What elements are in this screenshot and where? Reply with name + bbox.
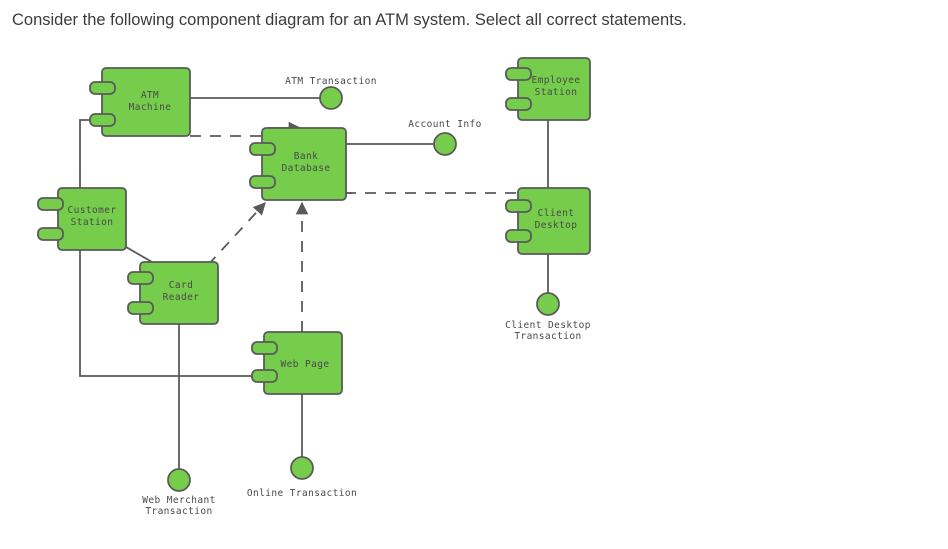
question-text: Consider the following component diagram… — [12, 10, 932, 31]
interface-online-transaction[interactable]: Online Transaction — [247, 457, 357, 499]
interface-label-line1: Client Desktop — [505, 320, 591, 331]
component-label-line2: Desktop — [535, 220, 578, 231]
interface-label-line1: Account Info — [408, 119, 481, 130]
diagram-canvas: ATM Machine Bank Database Customer Stati… — [0, 40, 948, 549]
interface-label-line1: ATM Transaction — [285, 76, 377, 87]
component-customer-station[interactable]: Customer Station — [38, 188, 126, 250]
interface-client-desktop-transaction[interactable]: Client Desktop Transaction — [505, 293, 591, 342]
port-upper[interactable] — [128, 272, 153, 284]
component-diagram: ATM Machine Bank Database Customer Stati… — [0, 40, 948, 549]
component-label-line2: Station — [71, 217, 114, 228]
port-upper[interactable] — [252, 342, 277, 354]
component-label-line1: Web Page — [281, 359, 330, 370]
component-label-line2: Machine — [129, 102, 172, 113]
port-upper[interactable] — [90, 82, 115, 94]
component-client-desktop[interactable]: Client Desktop — [506, 188, 590, 254]
interface-label-line2: Transaction — [145, 506, 212, 517]
component-employee-station[interactable]: Employee Station — [506, 58, 590, 120]
component-web-page[interactable]: Web Page — [252, 332, 342, 394]
component-label-line1: Employee — [532, 75, 581, 86]
component-label-line1: Client — [538, 208, 575, 219]
connector-customer-station-to-card-reader — [126, 247, 152, 262]
port-lower[interactable] — [90, 114, 115, 126]
port-upper[interactable] — [506, 68, 531, 80]
components-layer: ATM Machine Bank Database Customer Stati… — [38, 58, 590, 394]
lollipop-icon[interactable] — [168, 469, 190, 491]
interface-atm-transaction[interactable]: ATM Transaction — [285, 76, 377, 109]
component-label-line1: ATM — [141, 90, 159, 101]
component-atm-machine[interactable]: ATM Machine — [90, 68, 190, 136]
port-upper[interactable] — [38, 198, 63, 210]
component-label-line2: Database — [282, 163, 331, 174]
interface-account-info[interactable]: Account Info — [408, 119, 481, 155]
component-bank-database[interactable]: Bank Database — [250, 128, 346, 200]
interface-web-merchant-transaction[interactable]: Web Merchant Transaction — [142, 469, 215, 517]
lollipop-icon[interactable] — [537, 293, 559, 315]
port-lower[interactable] — [128, 302, 153, 314]
component-label-line2: Station — [535, 87, 578, 98]
component-card-reader[interactable]: Card Reader — [128, 262, 218, 324]
component-label-line2: Reader — [163, 292, 200, 303]
lollipop-icon[interactable] — [434, 133, 456, 155]
connector-atm-to-customer-station — [80, 120, 100, 188]
component-label-line1: Customer — [68, 205, 117, 216]
interface-label-line1: Web Merchant — [142, 495, 215, 506]
dependency-card-reader-to-bankdb — [208, 203, 265, 265]
interface-label-line2: Transaction — [514, 331, 581, 342]
component-label-line1: Card — [169, 280, 193, 291]
port-lower[interactable] — [252, 370, 277, 382]
lollipop-icon[interactable] — [320, 87, 342, 109]
interface-label-line1: Online Transaction — [247, 488, 357, 499]
port-upper[interactable] — [250, 143, 275, 155]
lollipop-icon[interactable] — [291, 457, 313, 479]
component-label-line1: Bank — [294, 151, 318, 162]
port-lower[interactable] — [506, 230, 531, 242]
port-lower[interactable] — [506, 98, 531, 110]
port-lower[interactable] — [250, 176, 275, 188]
port-upper[interactable] — [506, 200, 531, 212]
port-lower[interactable] — [38, 228, 63, 240]
